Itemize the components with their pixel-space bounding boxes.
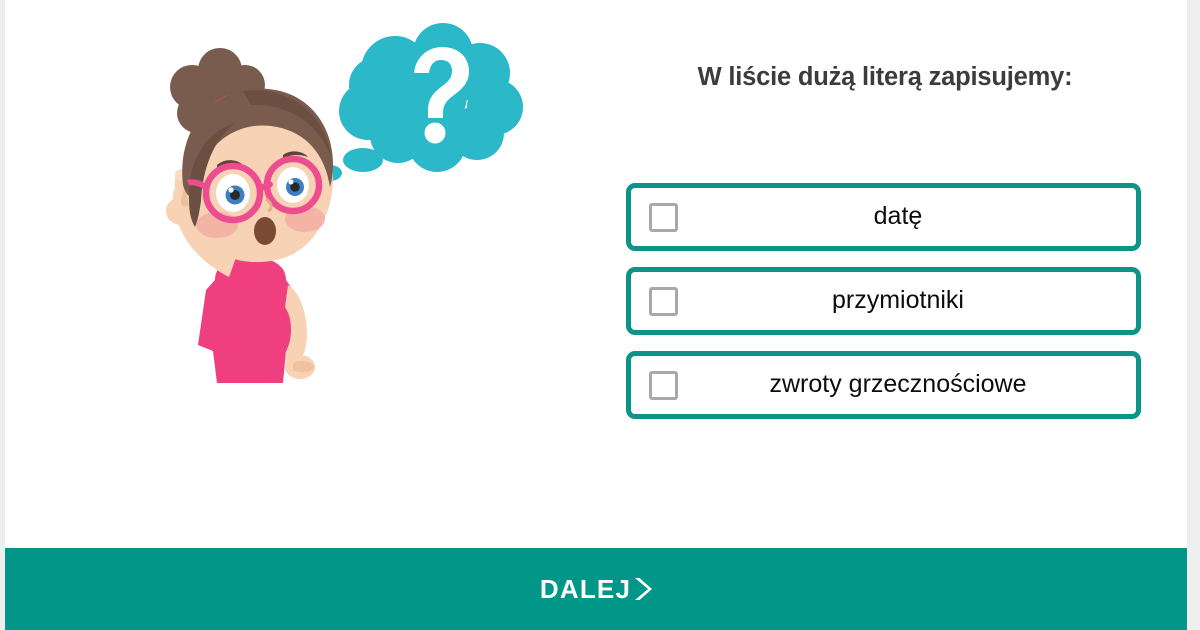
answer-options-list: datę przymiotniki zwroty grzecznościowe — [626, 183, 1141, 419]
answer-option-label: datę — [678, 203, 1136, 231]
right-hand — [285, 355, 315, 379]
answer-option-0[interactable]: datę — [626, 183, 1141, 251]
content-card: W liście dużą literą zapisujemy: datę pr… — [5, 0, 1187, 548]
checkbox-icon[interactable] — [649, 371, 678, 400]
answer-option-label: przymiotniki — [678, 287, 1136, 315]
chevron-right-icon — [632, 576, 652, 602]
next-button[interactable]: DALEJ — [5, 548, 1187, 630]
thinking-girl-illustration — [125, 15, 525, 395]
mouth — [254, 217, 276, 245]
girl-figure — [166, 48, 333, 383]
quiz-page: W liście dużą literą zapisujemy: datę pr… — [0, 0, 1200, 630]
checkbox-icon[interactable] — [649, 287, 678, 316]
question-title: W liście dużą literą zapisujemy: — [605, 62, 1165, 93]
next-button-label: DALEJ — [540, 576, 631, 602]
answer-option-1[interactable]: przymiotniki — [626, 267, 1141, 335]
answer-option-label: zwroty grzecznościowe — [678, 371, 1136, 399]
quiz-panel: W liście dużą literą zapisujemy: datę pr… — [605, 0, 1165, 548]
checkbox-icon[interactable] — [649, 203, 678, 232]
answer-option-2[interactable]: zwroty grzecznościowe — [626, 351, 1141, 419]
